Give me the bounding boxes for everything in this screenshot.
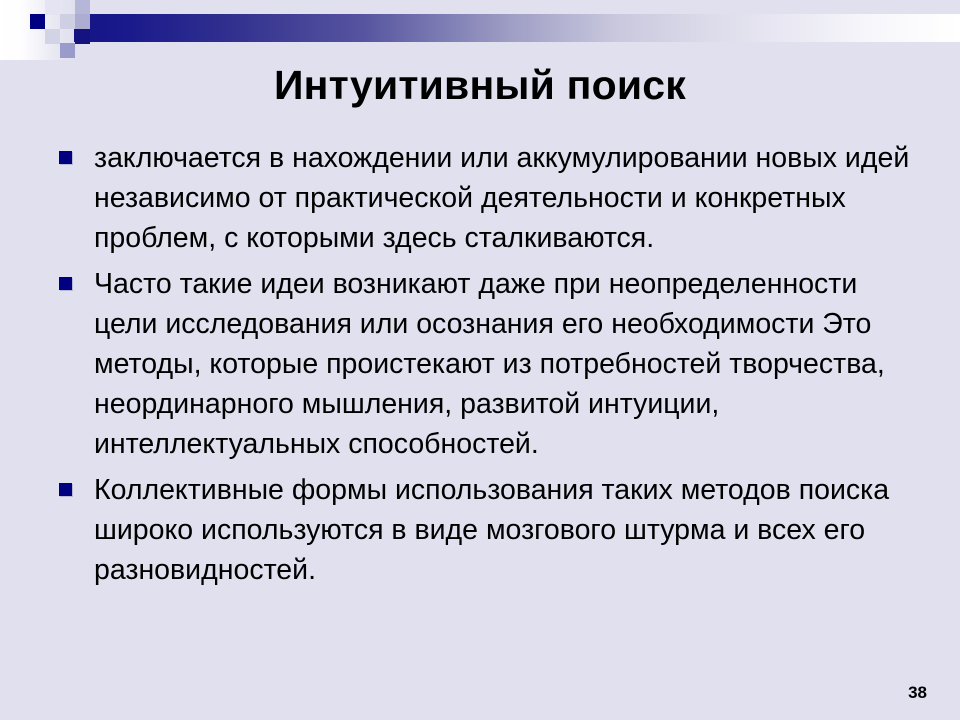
deco-square-3 [45,29,60,44]
deco-square-7 [75,14,90,29]
bullet-list-item: заключается в нахождении или аккумулиров… [52,138,912,258]
deco-square-4 [60,14,75,29]
slide-title: Интуитивный поиск [0,62,960,109]
slide-content-body: заключается в нахождении или аккумулиров… [52,138,912,596]
page-number: 38 [908,683,927,703]
bullet-list-item: Коллективные формы использования таких м… [52,470,912,590]
header-decoration [0,0,960,60]
bullet-text: заключается в нахождении или аккумулиров… [94,138,912,258]
deco-square-6 [75,0,90,15]
square-bullet-icon [59,277,72,290]
header-gradient-bar [58,14,960,42]
deco-square-8 [75,29,90,44]
square-bullet-icon [59,483,72,496]
deco-square-5 [60,43,75,58]
bullet-list-item: Часто такие идеи возникают даже при неоп… [52,264,912,464]
bullet-text: Коллективные формы использования таких м… [94,470,912,590]
deco-square-1 [30,14,45,29]
square-bullet-icon [59,151,72,164]
bullet-text: Часто такие идеи возникают даже при неоп… [94,264,912,464]
deco-square-2 [45,0,60,15]
